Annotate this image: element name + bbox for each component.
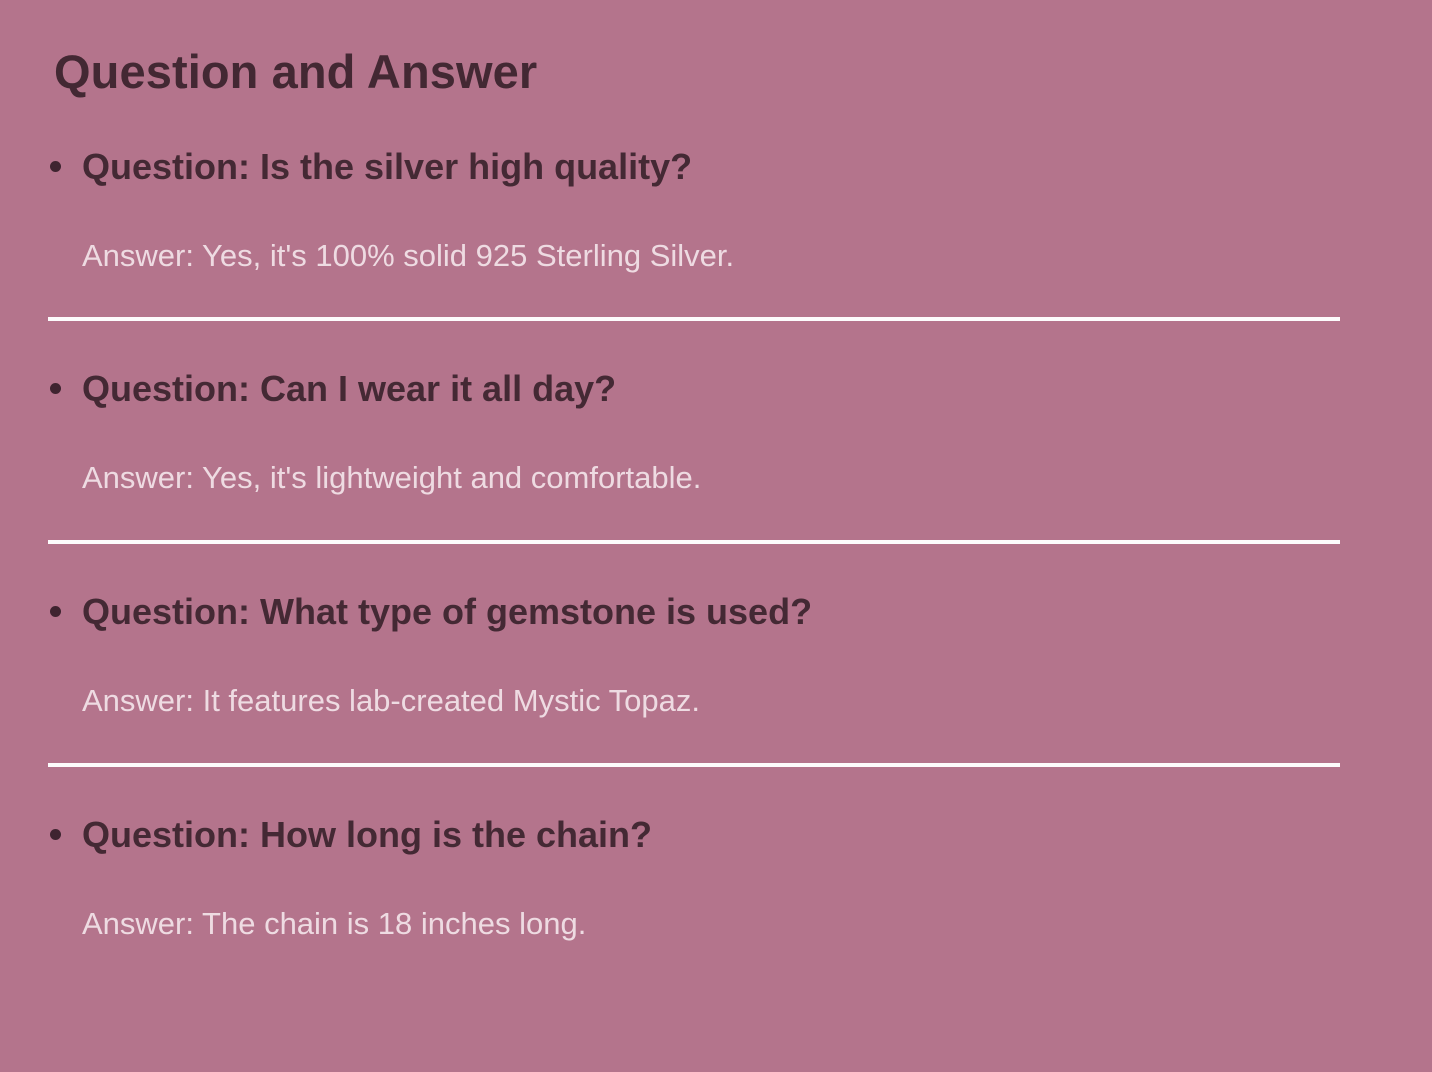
list-item: Question: What type of gemstone is used?… <box>48 590 1386 721</box>
qa-question: Question: Can I wear it all day? <box>82 367 1386 411</box>
list-item: Question: How long is the chain? Answer:… <box>48 813 1386 944</box>
qa-block: Question: What type of gemstone is used?… <box>48 590 1386 767</box>
qa-question: Question: What type of gemstone is used? <box>82 590 1386 634</box>
qa-divider <box>48 540 1340 544</box>
bullet-dot-icon <box>50 383 61 394</box>
qa-answer: Answer: Yes, it's 100% solid 925 Sterlin… <box>82 237 1386 276</box>
qa-answer: Answer: Yes, it's lightweight and comfor… <box>82 459 1386 498</box>
list-item: Question: Can I wear it all day? Answer:… <box>48 367 1386 498</box>
qa-question: Question: How long is the chain? <box>82 813 1386 857</box>
list-item: Question: Is the silver high quality? An… <box>48 145 1386 276</box>
qa-block: Question: How long is the chain? Answer:… <box>48 813 1386 944</box>
qa-block: Question: Is the silver high quality? An… <box>48 145 1386 322</box>
qa-block: Question: Can I wear it all day? Answer:… <box>48 367 1386 544</box>
qa-question: Question: Is the silver high quality? <box>82 145 1386 189</box>
qa-divider <box>48 763 1340 767</box>
qa-answer: Answer: The chain is 18 inches long. <box>82 905 1386 944</box>
bullet-dot-icon <box>50 606 61 617</box>
question-and-answer-panel: Question and Answer Question: Is the sil… <box>0 0 1432 1072</box>
page-title: Question and Answer <box>54 46 1386 99</box>
bullet-dot-icon <box>50 161 61 172</box>
qa-divider <box>48 317 1340 321</box>
qa-list: Question: Is the silver high quality? An… <box>48 145 1386 944</box>
bullet-dot-icon <box>50 829 61 840</box>
qa-answer: Answer: It features lab-created Mystic T… <box>82 682 1386 721</box>
